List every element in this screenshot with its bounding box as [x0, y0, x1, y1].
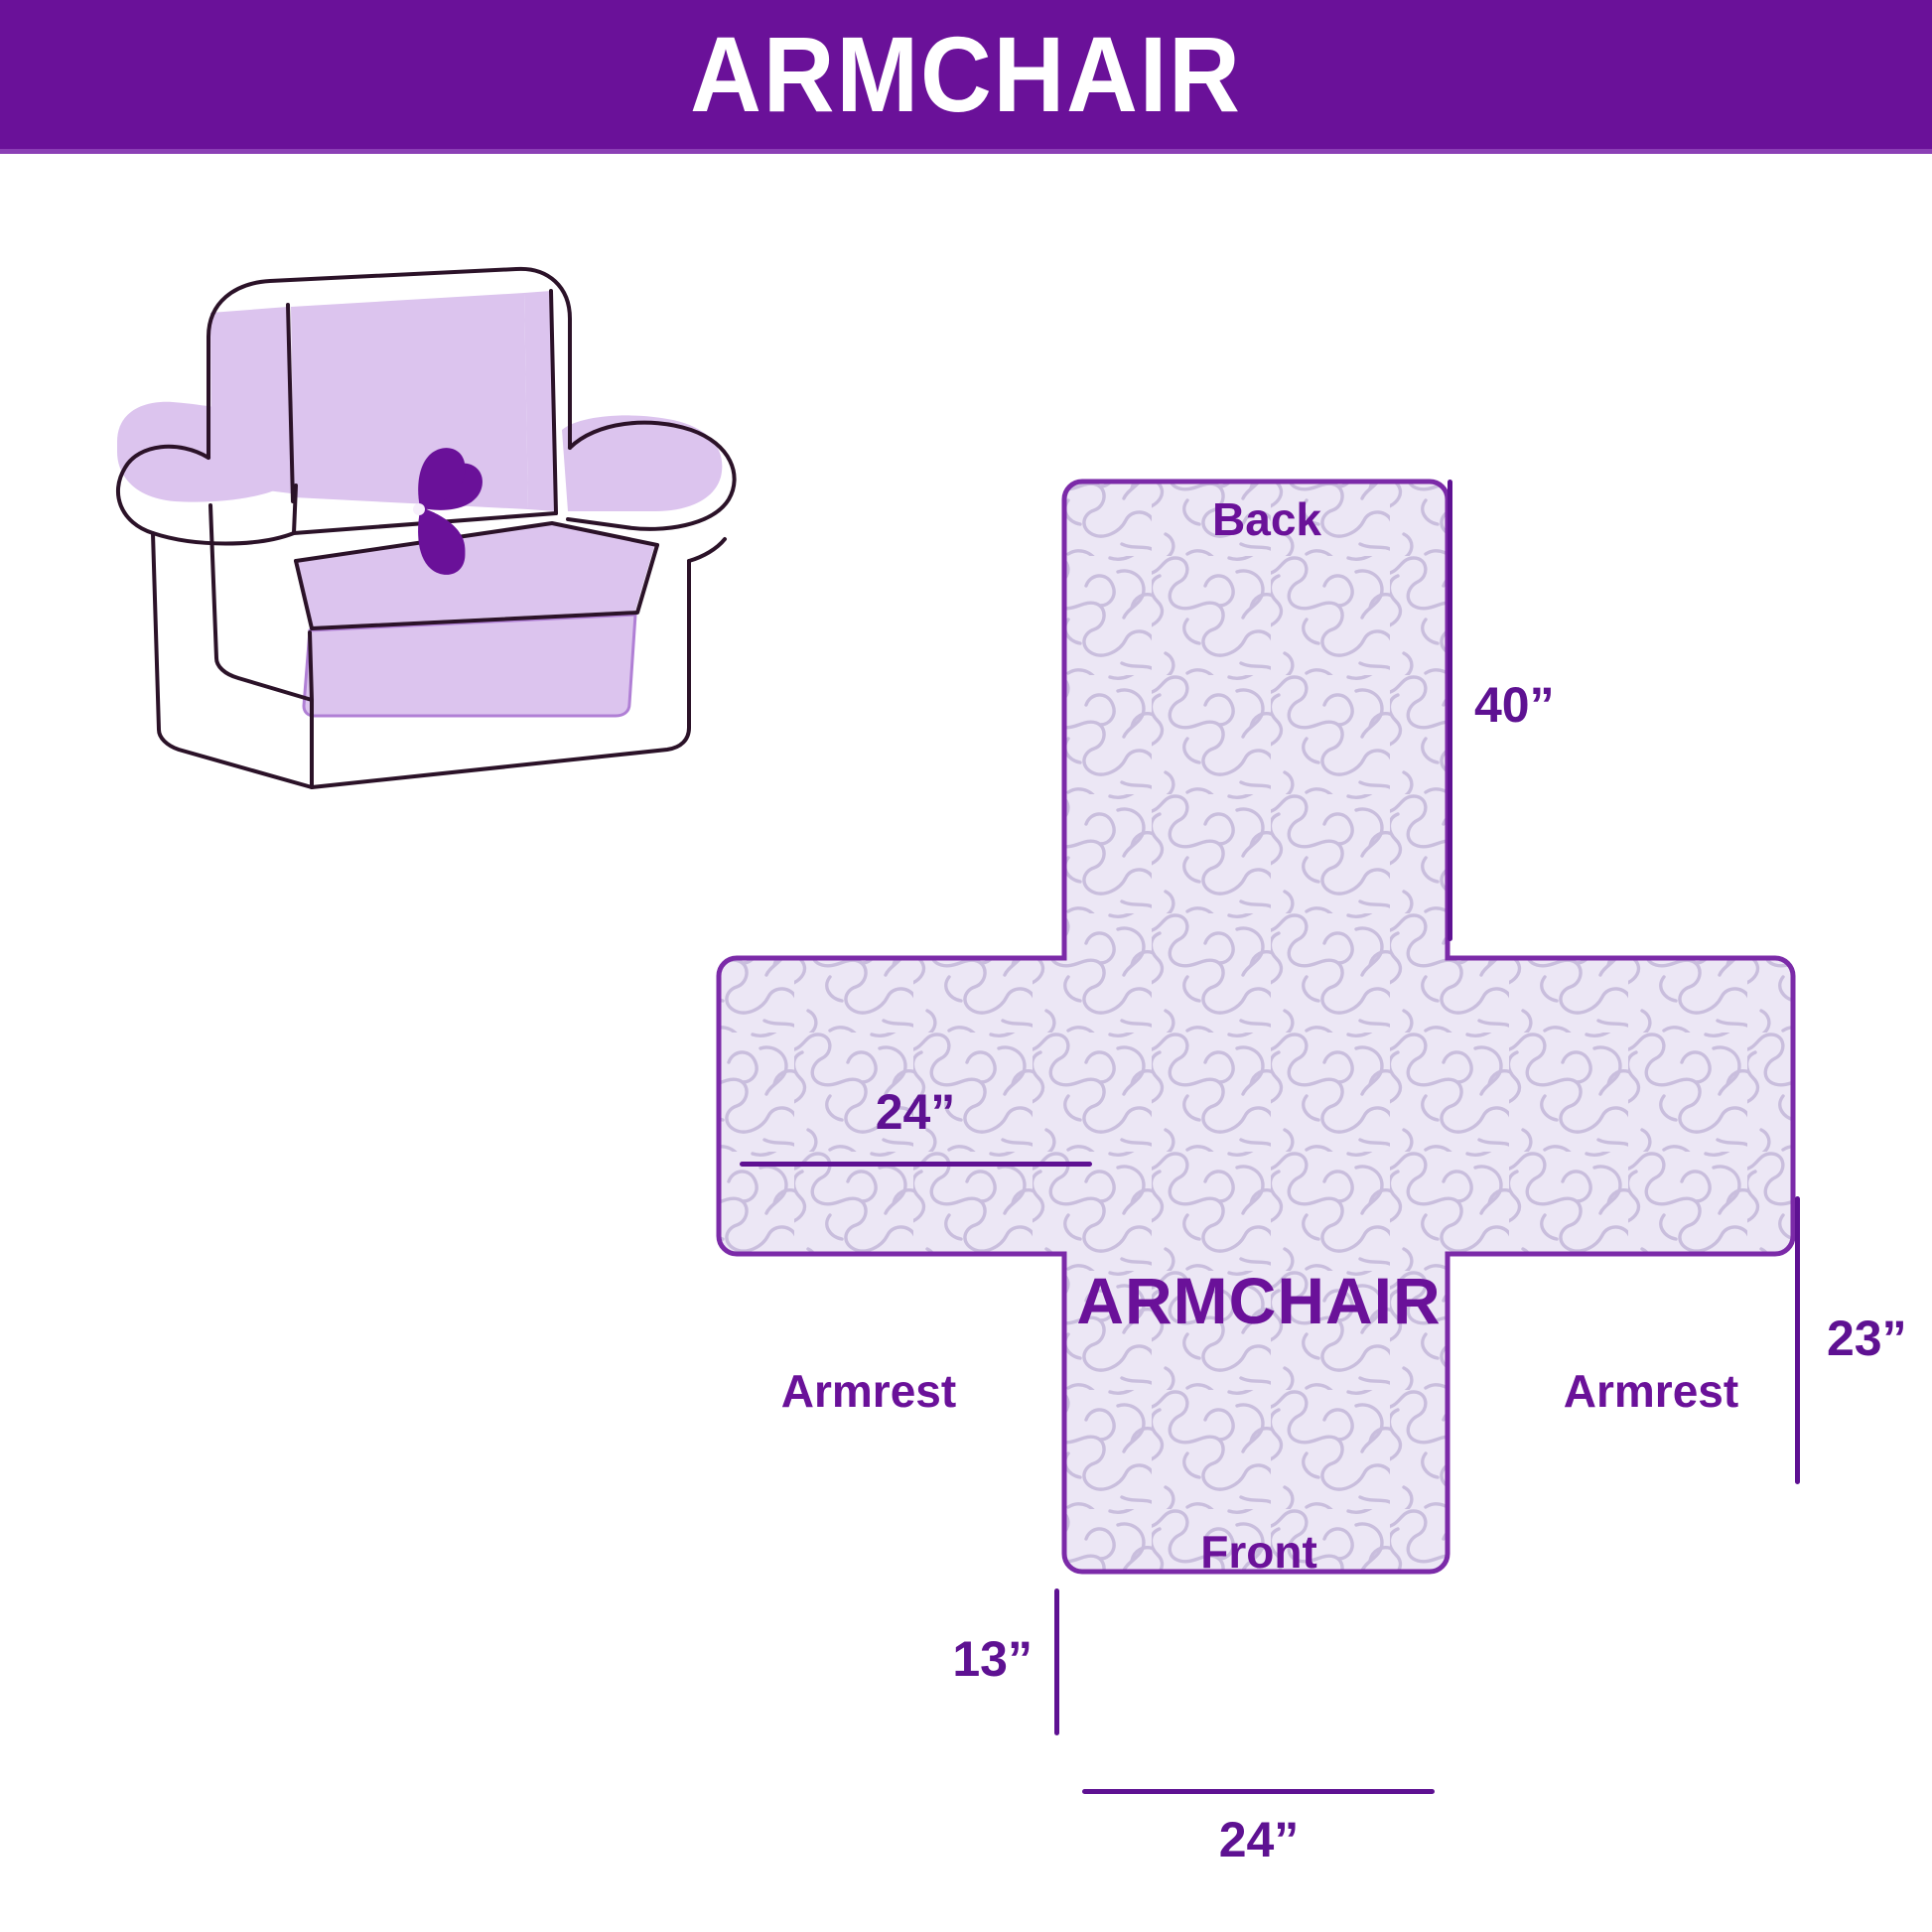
panel-label-armrest-left: Armrest: [781, 1368, 956, 1414]
page-title: ARMCHAIR: [690, 21, 1242, 128]
dimension-label-back-length: 40”: [1474, 680, 1555, 730]
dimension-line-back-length: [1448, 480, 1452, 941]
dimension-label-front-width: 24”: [1219, 1815, 1300, 1864]
header-underline-divider: [0, 149, 1932, 154]
dimension-line-armrest-depth: [1795, 1196, 1800, 1484]
panel-label-front: Front: [1200, 1529, 1317, 1575]
dimension-line-front-width: [1082, 1789, 1435, 1794]
panel-label-center: ARMCHAIR: [1076, 1268, 1441, 1333]
dimension-label-back-width: 24”: [876, 1087, 956, 1137]
panel-label-armrest-right: Armrest: [1564, 1368, 1738, 1414]
dimension-label-armrest-depth: 23”: [1827, 1313, 1907, 1363]
dimension-line-back-width: [740, 1162, 1092, 1167]
header-banner: ARMCHAIR: [0, 0, 1932, 149]
dimension-label-front-drop: 13”: [952, 1634, 1033, 1684]
armchair-size-diagram-page: ARMCHAIR: [0, 0, 1932, 1932]
cover-flat-layout-diagram: [556, 437, 1932, 1876]
dimension-line-front-drop: [1054, 1588, 1059, 1735]
panel-label-back: Back: [1212, 496, 1321, 542]
